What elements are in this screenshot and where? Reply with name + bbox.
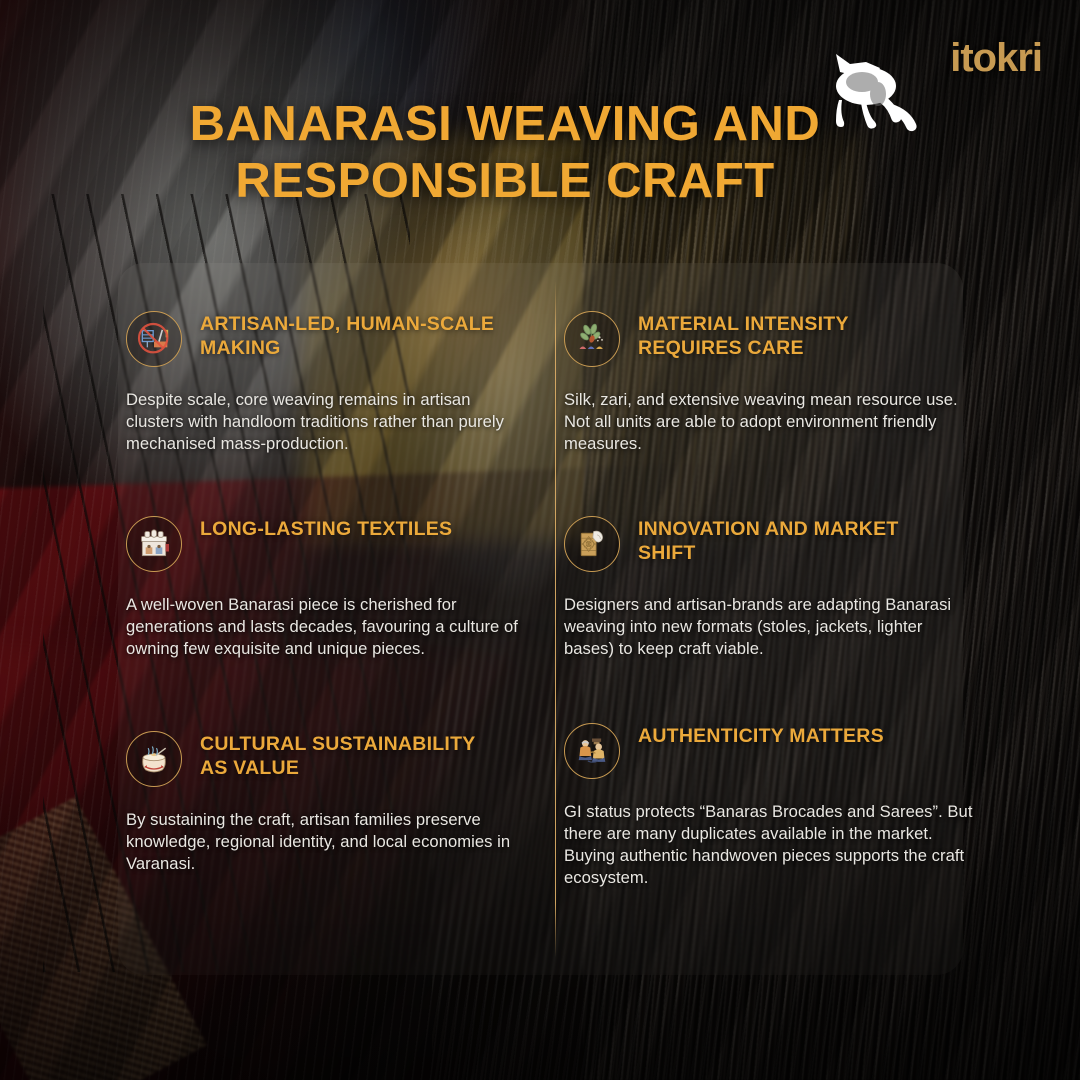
cat-logo-icon xyxy=(822,46,922,138)
card-header: LONG-LASTING TEXTILES xyxy=(126,514,546,572)
brand-logo-text: itokri xyxy=(950,38,1042,78)
title-line-1: BANARASI WEAVING AND xyxy=(90,96,920,153)
card-body: Despite scale, core weaving remains in a… xyxy=(126,389,526,455)
card-header: CULTURAL SUSTAINABILITY AS VALUE xyxy=(126,729,546,787)
card-cultural-sustainability[interactable]: CULTURAL SUSTAINABILITY AS VALUE By sust… xyxy=(126,729,546,875)
card-body: GI status protects “Banaras Brocades and… xyxy=(564,801,976,889)
brand-logo[interactable]: itokri xyxy=(950,38,1042,78)
card-header: INNOVATION AND MARKET SHIFT xyxy=(564,514,984,572)
card-authenticity-matters[interactable]: AUTHENTICITY MATTERS GI status protects … xyxy=(564,721,984,889)
card-title: ARTISAN-LED, HUMAN-SCALE MAKING xyxy=(200,309,500,361)
artisan-shop-icon xyxy=(126,516,182,572)
column-divider xyxy=(555,281,556,957)
card-body: Silk, zari, and extensive weaving mean r… xyxy=(564,389,976,455)
card-title: INNOVATION AND MARKET SHIFT xyxy=(638,514,938,566)
card-title: MATERIAL INTENSITY REQUIRES CARE xyxy=(638,309,938,361)
steaming-pot-icon xyxy=(126,731,182,787)
content-panel: ARTISAN-LED, HUMAN-SCALE MAKING Despite … xyxy=(118,263,963,975)
card-title: AUTHENTICITY MATTERS xyxy=(638,721,884,749)
card-innovation-market-shift[interactable]: INNOVATION AND MARKET SHIFT Designers an… xyxy=(564,514,984,660)
card-header: MATERIAL INTENSITY REQUIRES CARE xyxy=(564,309,984,367)
card-title: CULTURAL SUSTAINABILITY AS VALUE xyxy=(200,729,500,781)
header: BANARASI WEAVING AND RESPONSIBLE CRAFT i… xyxy=(0,0,1080,250)
card-long-lasting-textiles[interactable]: LONG-LASTING TEXTILES A well-woven Banar… xyxy=(126,514,546,660)
natural-dye-leaves-icon xyxy=(564,311,620,367)
hand-holding-brocade-icon xyxy=(564,516,620,572)
card-body: A well-woven Banarasi piece is cherished… xyxy=(126,594,526,660)
card-title: LONG-LASTING TEXTILES xyxy=(200,514,452,542)
no-machine-loom-icon xyxy=(126,311,182,367)
page-title: BANARASI WEAVING AND RESPONSIBLE CRAFT xyxy=(90,96,920,210)
card-material-intensity[interactable]: MATERIAL INTENSITY REQUIRES CARE Silk, z… xyxy=(564,309,984,455)
card-artisan-led[interactable]: ARTISAN-LED, HUMAN-SCALE MAKING Despite … xyxy=(126,309,546,455)
card-body: Designers and artisan-brands are adaptin… xyxy=(564,594,976,660)
title-line-2: RESPONSIBLE CRAFT xyxy=(90,153,920,210)
card-body: By sustaining the craft, artisan familie… xyxy=(126,809,526,875)
card-header: AUTHENTICITY MATTERS xyxy=(564,721,984,779)
two-artisans-seated-icon xyxy=(564,723,620,779)
card-header: ARTISAN-LED, HUMAN-SCALE MAKING xyxy=(126,309,546,367)
